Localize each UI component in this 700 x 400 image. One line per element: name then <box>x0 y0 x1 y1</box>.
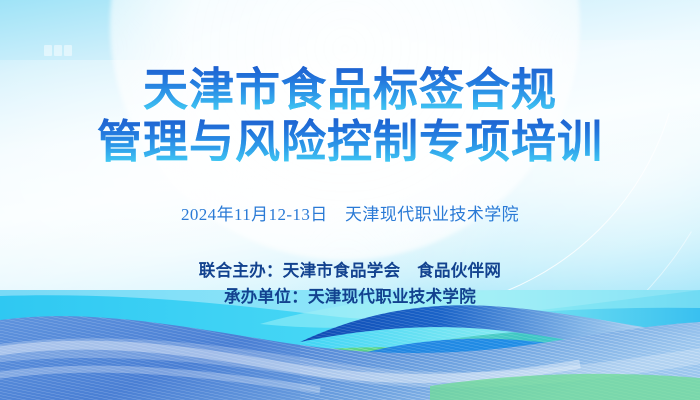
undertaker-line: 承办单位：天津现代职业技术学院 <box>0 284 700 310</box>
event-banner: 天津市食品标签合规 管理与风险控制专项培训 2024年11月12-13日 天津现… <box>0 0 700 400</box>
banner-content: 天津市食品标签合规 管理与风险控制专项培训 2024年11月12-13日 天津现… <box>0 0 700 400</box>
page-title: 天津市食品标签合规 管理与风险控制专项培训 <box>0 64 700 168</box>
date-and-venue: 2024年11月12-13日 天津现代职业技术学院 <box>0 200 700 225</box>
co-host-line: 联合主办：天津市食品学会 食品伙伴网 <box>0 258 700 284</box>
organizer-block: 联合主办：天津市食品学会 食品伙伴网 承办单位：天津现代职业技术学院 <box>0 258 700 310</box>
title-line-1: 天津市食品标签合规 <box>0 64 700 116</box>
title-line-2: 管理与风险控制专项培训 <box>0 116 700 168</box>
